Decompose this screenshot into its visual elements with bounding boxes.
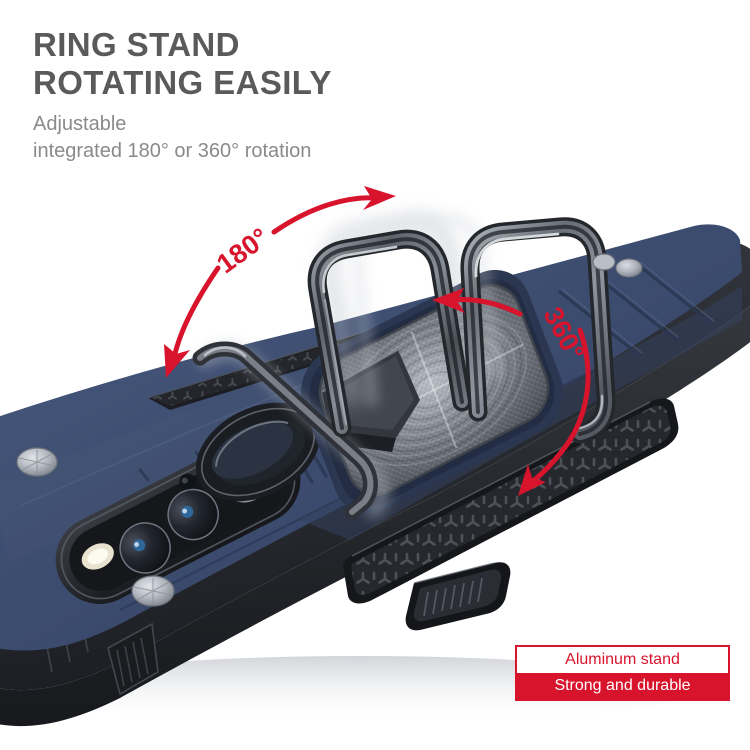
feature-badge: Aluminum stand Strong and durable — [515, 645, 730, 701]
svg-text:180°: 180° — [211, 222, 274, 279]
annotation-180-label: 180° — [211, 222, 274, 279]
badge-top-label: Aluminum stand — [517, 647, 728, 673]
product-graphic-canvas: RING STAND ROTATING EASILY Adjustable in… — [0, 0, 750, 750]
ring-anchor-screw — [593, 254, 615, 270]
screw-bottom — [132, 576, 174, 606]
screw-top-left — [17, 448, 57, 476]
screw-top-right — [616, 259, 642, 277]
product-illustration: 180° 360° — [0, 0, 750, 750]
badge-bottom-label: Strong and durable — [517, 673, 728, 699]
